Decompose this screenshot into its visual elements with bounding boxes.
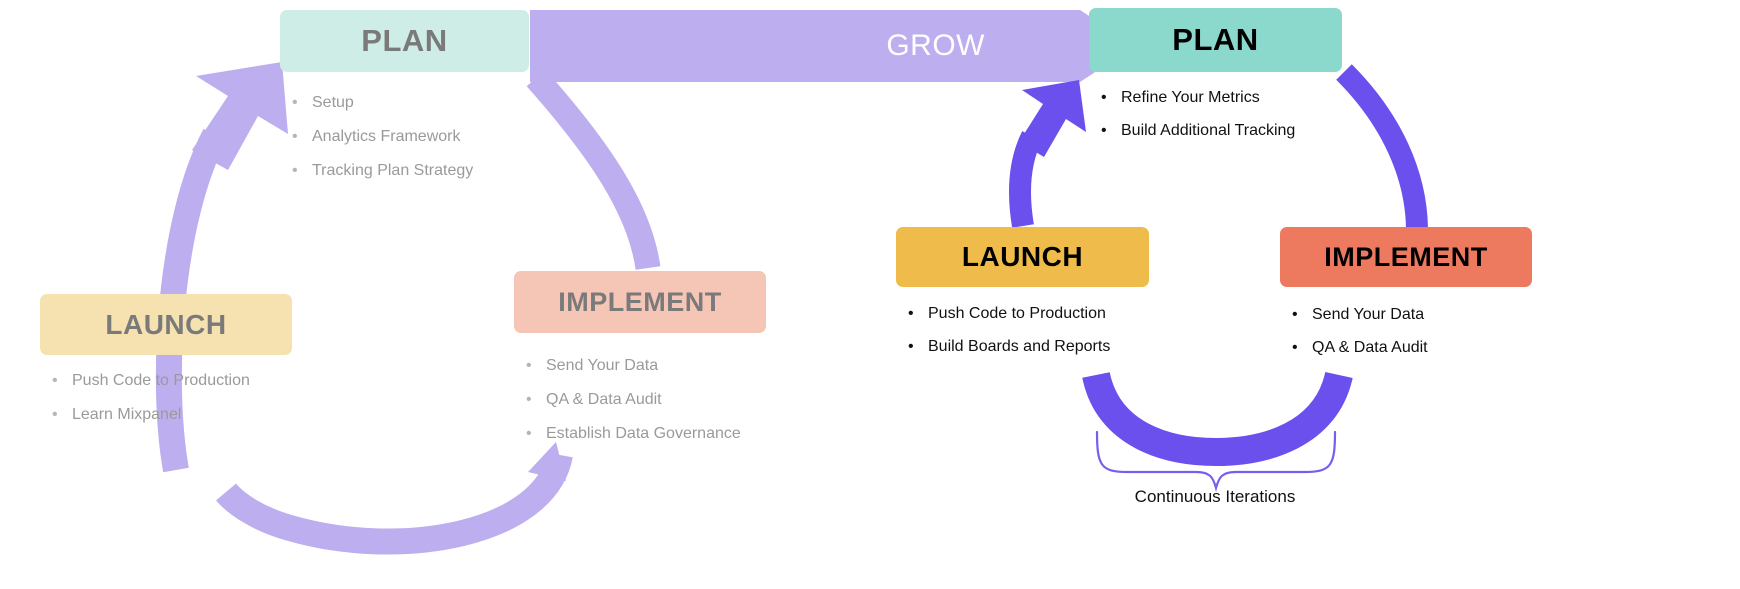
left-plan-title: PLAN xyxy=(361,23,447,59)
arrow-launch-to-plan-active xyxy=(1020,136,1032,226)
bullet-icon: • xyxy=(908,305,928,323)
right-implement-box[interactable]: IMPLEMENT xyxy=(1280,227,1532,287)
list-item: • Refine Your Metrics xyxy=(1101,89,1295,122)
left-launch-title: LAUNCH xyxy=(105,309,226,341)
bullet-icon: • xyxy=(52,372,72,390)
bullet-icon: • xyxy=(1292,306,1312,324)
left-plan-box[interactable]: PLAN xyxy=(280,10,529,72)
right-launch-title: LAUNCH xyxy=(962,241,1083,273)
left-implement-box[interactable]: IMPLEMENT xyxy=(514,271,766,333)
bullet-icon: • xyxy=(52,406,72,424)
left-launch-box[interactable]: LAUNCH xyxy=(40,294,292,355)
list-item: • Push Code to Production xyxy=(908,305,1110,338)
left-plan-bullets: • Setup • Analytics Framework • Tracking… xyxy=(292,94,473,196)
right-implement-bullets: • Send Your Data • QA & Data Audit xyxy=(1292,306,1428,372)
bullet-icon: • xyxy=(292,94,312,112)
list-item: • Setup xyxy=(292,94,473,128)
right-plan-box[interactable]: PLAN xyxy=(1089,8,1342,72)
right-implement-title: IMPLEMENT xyxy=(1324,242,1488,273)
list-item: • Tracking Plan Strategy xyxy=(292,162,473,196)
right-plan-title: PLAN xyxy=(1172,22,1258,58)
list-item: • Send Your Data xyxy=(526,357,741,391)
left-launch-bullets: • Push Code to Production • Learn Mixpan… xyxy=(52,372,250,440)
bullet-icon: • xyxy=(292,128,312,146)
list-item: • Send Your Data xyxy=(1292,306,1428,339)
bullet-icon: • xyxy=(526,357,546,375)
bullet-icon: • xyxy=(526,425,546,443)
list-item: • Build Boards and Reports xyxy=(908,338,1110,371)
continuous-iterations-label: Continuous Iterations xyxy=(1060,487,1370,507)
left-implement-title: IMPLEMENT xyxy=(558,287,722,318)
bullet-icon: • xyxy=(526,391,546,409)
bullet-icon: • xyxy=(1101,122,1121,140)
list-item: • Establish Data Governance xyxy=(526,425,741,459)
list-item: • QA & Data Audit xyxy=(1292,339,1428,372)
grow-banner-label: GROW xyxy=(886,29,985,63)
bullet-icon: • xyxy=(1101,89,1121,107)
arrowhead-launch-to-plan-faded xyxy=(192,62,288,170)
right-launch-box[interactable]: LAUNCH xyxy=(896,227,1149,287)
arrow-plan-to-implement-faded xyxy=(536,78,648,268)
bullet-icon: • xyxy=(292,162,312,180)
left-implement-bullets: • Send Your Data • QA & Data Audit • Est… xyxy=(526,357,741,459)
list-item: • Analytics Framework xyxy=(292,128,473,162)
right-launch-bullets: • Push Code to Production • Build Boards… xyxy=(908,305,1110,371)
arrow-implement-to-launch-faded xyxy=(226,455,560,542)
grow-banner: GROW xyxy=(530,10,1135,82)
arrowhead-launch-to-plan-active xyxy=(1019,80,1086,157)
bullet-icon: • xyxy=(1292,339,1312,357)
arrow-plan-to-implement-active xyxy=(1344,72,1417,228)
diagram-canvas: GROW PLAN • Setup • Analytics Framework … xyxy=(0,0,1740,589)
right-plan-bullets: • Refine Your Metrics • Build Additional… xyxy=(1101,89,1295,155)
bullet-icon: • xyxy=(908,338,928,356)
continuous-iterations-brace xyxy=(1097,432,1335,488)
list-item: • QA & Data Audit xyxy=(526,391,741,425)
list-item: • Learn Mixpanel xyxy=(52,406,250,440)
arrow-implement-to-launch-active xyxy=(1096,375,1339,452)
list-item: • Push Code to Production xyxy=(52,372,250,406)
list-item: • Build Additional Tracking xyxy=(1101,122,1295,155)
